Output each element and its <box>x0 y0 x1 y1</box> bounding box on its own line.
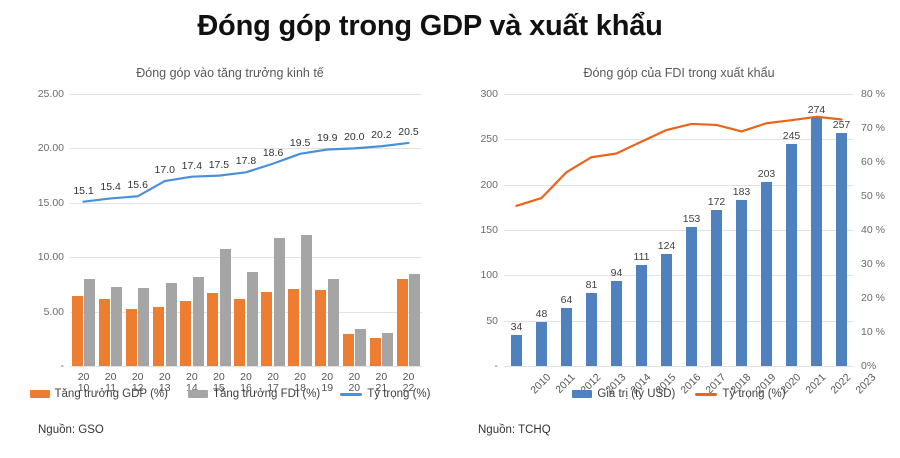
y2-axis-tick-label: 10 % <box>861 326 885 338</box>
y-axis-tick-label: 10.00 <box>38 251 64 263</box>
line-point-label: 18.6 <box>263 147 283 159</box>
line-point-label: 20.0 <box>344 131 364 143</box>
legend-item-1[interactable]: Tỷ trọng (%) <box>695 388 785 400</box>
line-series-ty-trong <box>70 94 422 366</box>
y2-axis-tick-label: 30 % <box>861 258 885 270</box>
legend-item-0[interactable]: Tăng trưởng GDP (%) <box>30 388 168 400</box>
y2-axis-tick-label: 50 % <box>861 190 885 202</box>
line-point-label: 17.8 <box>236 155 256 167</box>
legend-item-0[interactable]: Giá trị (tỷ USD) <box>572 388 675 400</box>
y2-axis-tick-label: 0% <box>861 360 876 372</box>
line-series-ty-trong <box>504 94 854 366</box>
line-point-label: 20.5 <box>398 126 418 138</box>
chart-subtitle-left: Đóng góp vào tăng trưởng kinh tế <box>10 66 450 80</box>
y-axis-tick-label: - <box>61 360 65 372</box>
chart-subtitle-right: Đóng góp của FDI trong xuất khẩu <box>458 66 900 80</box>
line-point-label: 19.9 <box>317 132 337 144</box>
legend-swatch-bar <box>30 390 50 398</box>
y-axis-tick-label: 100 <box>480 269 498 281</box>
y-axis-tick-label: 25.00 <box>38 88 64 100</box>
legend-label: Giá trị (tỷ USD) <box>597 388 675 400</box>
y-axis-tick-label: 5.00 <box>44 306 64 318</box>
y-axis-tick-label: 300 <box>480 88 498 100</box>
legend-label: Tăng trưởng FDI (%) <box>213 388 320 400</box>
y-axis-tick-label: 50 <box>486 315 498 327</box>
legend-swatch-bar <box>188 390 208 398</box>
legend-item-1[interactable]: Tăng trưởng FDI (%) <box>188 388 320 400</box>
legend-label: Tăng trưởng GDP (%) <box>55 388 168 400</box>
line-point-label: 15.1 <box>73 185 93 197</box>
chart-legend-right: Giá trị (tỷ USD)Tỷ trọng (%) <box>458 388 900 400</box>
y-axis-tick-label: 20.00 <box>38 142 64 154</box>
line-point-label: 17.0 <box>155 164 175 176</box>
y-axis-tick-label: 200 <box>480 179 498 191</box>
line-point-label: 17.5 <box>209 159 229 171</box>
legend-label: Tỷ trọng (%) <box>722 388 785 400</box>
chart-legend-left: Tăng trưởng GDP (%)Tăng trưởng FDI (%)Tỷ… <box>10 388 450 400</box>
source-note-right: Nguồn: TCHQ <box>478 424 551 436</box>
legend-item-2[interactable]: Tỷ trọng (%) <box>340 388 430 400</box>
line-point-label: 20.2 <box>371 129 391 141</box>
legend-swatch-line <box>340 393 362 396</box>
gridline <box>70 366 422 367</box>
y2-axis-tick-label: 80 % <box>861 88 885 100</box>
y-axis-tick-label: 250 <box>480 133 498 145</box>
legend-swatch-line <box>695 393 717 396</box>
plot-area-left: -5.0010.0015.0020.0025.0015.115.415.617.… <box>70 94 422 366</box>
line-point-label: 15.4 <box>100 181 120 193</box>
y-axis-tick-label: 150 <box>480 224 498 236</box>
y-axis-tick-label: - <box>495 360 499 372</box>
y2-axis-tick-label: 20 % <box>861 292 885 304</box>
line-point-label: 15.6 <box>127 179 147 191</box>
legend-label: Tỷ trọng (%) <box>367 388 430 400</box>
plot-area-right: -501001502002503000%10 %20 %30 %40 %50 %… <box>504 94 854 366</box>
gridline <box>504 366 854 367</box>
line-point-label: 17.4 <box>182 160 202 172</box>
y-axis-tick-label: 15.00 <box>38 197 64 209</box>
line-point-label: 19.5 <box>290 137 310 149</box>
legend-swatch-bar <box>572 390 592 398</box>
y2-axis-tick-label: 40 % <box>861 224 885 236</box>
page-title: Đóng góp trong GDP và xuất khẩu <box>0 10 860 43</box>
y2-axis-tick-label: 60 % <box>861 156 885 168</box>
chart-panel-left: Đóng góp vào tăng trưởng kinh tế -5.0010… <box>10 66 450 458</box>
y2-axis-tick-label: 70 % <box>861 122 885 134</box>
chart-panel-right: Đóng góp của FDI trong xuất khẩu -501001… <box>458 66 900 458</box>
source-note-left: Nguồn: GSO <box>38 424 104 436</box>
